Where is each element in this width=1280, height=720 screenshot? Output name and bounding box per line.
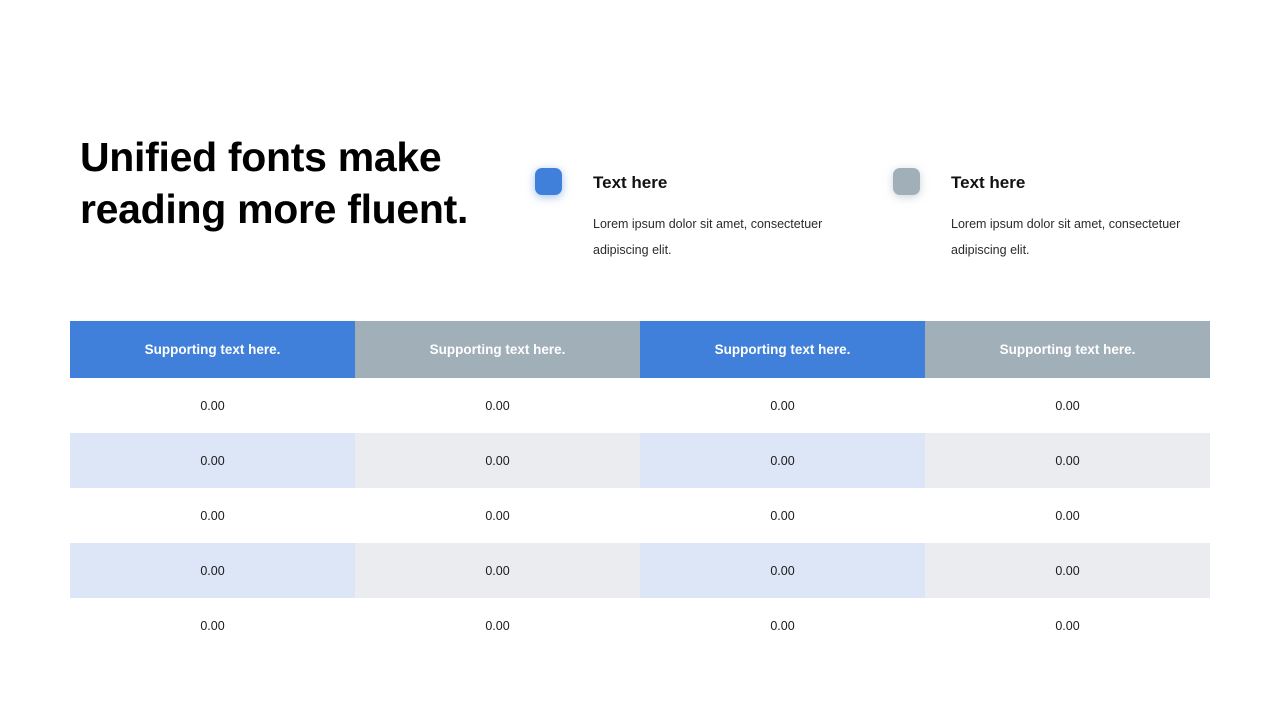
- table-row: 0.00 0.00 0.00 0.00: [70, 543, 1210, 598]
- feature-heading: Text here: [951, 173, 1025, 193]
- table-cell: 0.00: [640, 433, 925, 488]
- table-row: 0.00 0.00 0.00 0.00: [70, 598, 1210, 653]
- feature-heading: Text here: [593, 173, 667, 193]
- table-row: 0.00 0.00 0.00 0.00: [70, 488, 1210, 543]
- feature-body: Lorem ipsum dolor sit amet, consectetuer…: [593, 211, 868, 263]
- table-cell: 0.00: [640, 543, 925, 598]
- feature-body: Lorem ipsum dolor sit amet, consectetuer…: [951, 211, 1226, 263]
- table-cell: 0.00: [70, 543, 355, 598]
- table-body: 0.00 0.00 0.00 0.00 0.00 0.00 0.00 0.00 …: [70, 378, 1210, 653]
- table-row: 0.00 0.00 0.00 0.00: [70, 378, 1210, 433]
- table-cell: 0.00: [925, 488, 1210, 543]
- table-cell: 0.00: [70, 433, 355, 488]
- slide-header-section: Unified fonts make reading more fluent. …: [0, 0, 1280, 300]
- table-header: Supporting text here. Supporting text he…: [70, 321, 1210, 378]
- rounded-square-icon: [893, 168, 920, 195]
- table-cell: 0.00: [70, 378, 355, 433]
- rounded-square-icon: [535, 168, 562, 195]
- table-cell: 0.00: [925, 378, 1210, 433]
- table-cell: 0.00: [355, 433, 640, 488]
- table-header-cell: Supporting text here.: [925, 321, 1210, 378]
- table-cell: 0.00: [640, 378, 925, 433]
- table-header-cell: Supporting text here.: [70, 321, 355, 378]
- table-cell: 0.00: [640, 488, 925, 543]
- table-cell: 0.00: [355, 598, 640, 653]
- table-cell: 0.00: [640, 598, 925, 653]
- table-cell: 0.00: [925, 598, 1210, 653]
- data-table: Supporting text here. Supporting text he…: [70, 321, 1210, 653]
- table-row: 0.00 0.00 0.00 0.00: [70, 433, 1210, 488]
- page-title: Unified fonts make reading more fluent.: [80, 131, 510, 235]
- table-cell: 0.00: [925, 433, 1210, 488]
- table-header-cell: Supporting text here.: [640, 321, 925, 378]
- table-cell: 0.00: [70, 598, 355, 653]
- table-cell: 0.00: [355, 488, 640, 543]
- table-header-cell: Supporting text here.: [355, 321, 640, 378]
- table-cell: 0.00: [70, 488, 355, 543]
- table-cell: 0.00: [355, 378, 640, 433]
- table-header-row: Supporting text here. Supporting text he…: [70, 321, 1210, 378]
- table-cell: 0.00: [355, 543, 640, 598]
- table-cell: 0.00: [925, 543, 1210, 598]
